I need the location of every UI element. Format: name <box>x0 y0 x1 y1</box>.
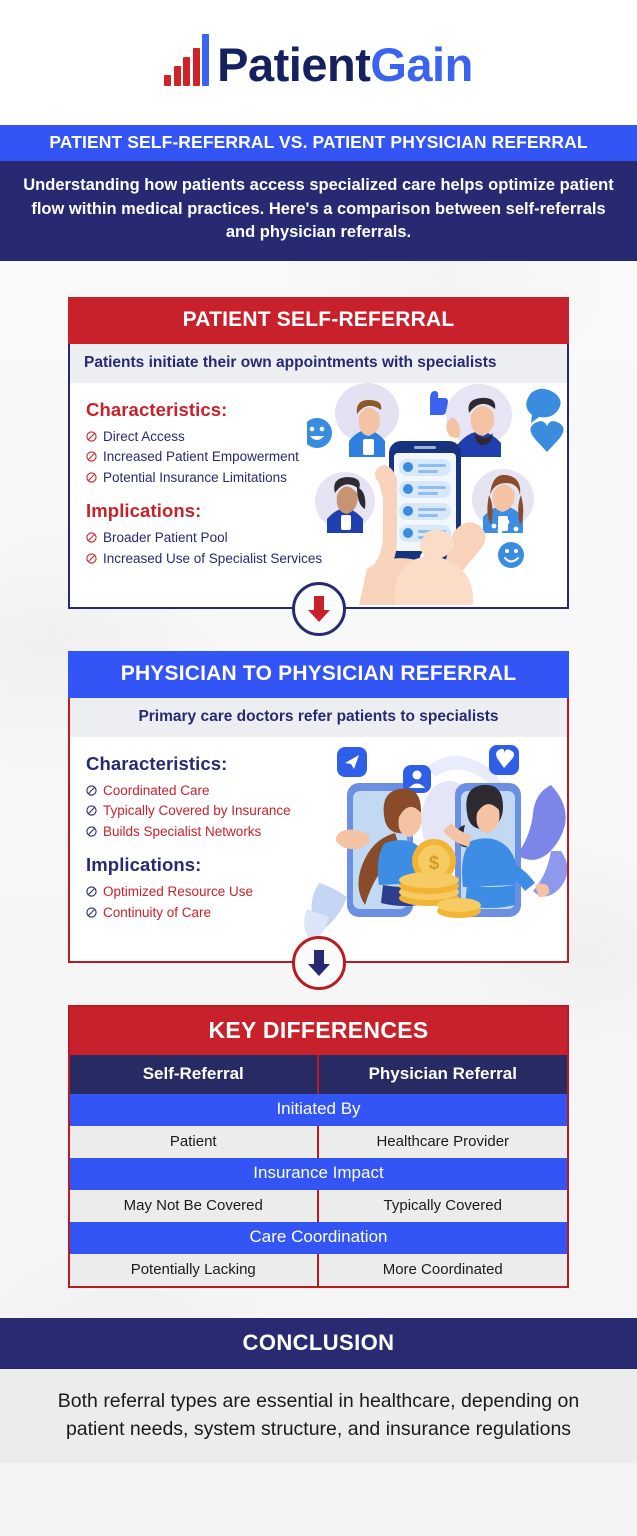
cell-physician-insurance-impact: Typically Covered <box>319 1190 568 1222</box>
list-item-label: Coordinated Care <box>103 781 210 802</box>
list-item: Optimized Resource Use <box>86 882 567 903</box>
column-header-physician-referral: Physician Referral <box>319 1055 568 1094</box>
list-item-label: Direct Access <box>103 427 185 448</box>
down-arrow-red-in-navy-circle <box>292 582 346 636</box>
brand-logo-area: PatientGain <box>0 0 637 125</box>
card-self-referral-subtitle: Patients initiate their own appointments… <box>70 344 567 383</box>
key-differences-title: KEY DIFFERENCES <box>70 1007 567 1055</box>
list-item-label: Increased Use of Specialist Services <box>103 549 322 570</box>
prohibition-circle-icon <box>86 553 97 564</box>
cell-self-initiated-by: Patient <box>70 1126 319 1158</box>
list-item-label: Increased Patient Empowerment <box>103 447 299 468</box>
key-differences-table: KEY DIFFERENCES Self-Referral Physician … <box>68 1005 569 1288</box>
list-item-label: Continuity of Care <box>103 903 211 924</box>
prohibition-circle-icon <box>86 451 97 462</box>
down-arrow-icon <box>306 594 332 624</box>
conclusion-title: CONCLUSION <box>0 1318 637 1369</box>
list-item: Direct Access <box>86 427 567 448</box>
list-item-label: Typically Covered by Insurance <box>103 801 291 822</box>
list-item: Broader Patient Pool <box>86 528 567 549</box>
cell-self-insurance-impact: May Not Be Covered <box>70 1190 319 1222</box>
cell-physician-care-coordination: More Coordinated <box>319 1254 568 1286</box>
prohibition-circle-icon <box>86 785 97 796</box>
prohibition-circle-icon <box>86 826 97 837</box>
table-header-row: Self-Referral Physician Referral <box>70 1055 567 1094</box>
card-self-referral-title: PATIENT SELF-REFERRAL <box>68 297 569 344</box>
list-item: Continuity of Care <box>86 903 567 924</box>
card-physician-referral-wrapper: PHYSICIAN TO PHYSICIAN REFERRAL Primary … <box>0 651 637 963</box>
down-arrow-icon <box>306 948 332 978</box>
list-item: Potential Insurance Limitations <box>86 468 567 489</box>
list-item-label: Broader Patient Pool <box>103 528 228 549</box>
self-referral-implications-heading: Implications: <box>86 500 567 522</box>
main-title-banner: PATIENT SELF-REFERRAL VS. PATIENT PHYSIC… <box>0 125 637 161</box>
physician-referral-implications-heading: Implications: <box>86 854 567 876</box>
table-row: Patient Healthcare Provider <box>70 1126 567 1158</box>
prohibition-circle-icon <box>86 886 97 897</box>
table-row: Potentially Lacking More Coordinated <box>70 1254 567 1286</box>
card-self-referral-wrapper: PATIENT SELF-REFERRAL Patients initiate … <box>0 297 637 609</box>
list-item-label: Optimized Resource Use <box>103 882 253 903</box>
table-row: May Not Be Covered Typically Covered <box>70 1190 567 1222</box>
list-item: Typically Covered by Insurance <box>86 801 567 822</box>
card-self-referral: PATIENT SELF-REFERRAL Patients initiate … <box>68 297 569 609</box>
list-item: Increased Patient Empowerment <box>86 447 567 468</box>
card-physician-referral-content: $ Characteristics: <box>70 737 567 961</box>
column-header-self-referral: Self-Referral <box>70 1055 319 1094</box>
conclusion-text: Both referral types are essential in hea… <box>0 1369 637 1464</box>
down-arrow-navy-in-red-circle <box>292 936 346 990</box>
card-self-referral-content: $ <box>70 383 567 607</box>
card-physician-referral: PHYSICIAN TO PHYSICIAN REFERRAL Primary … <box>68 651 569 963</box>
list-item: Builds Specialist Networks <box>86 822 567 843</box>
prohibition-circle-icon <box>86 472 97 483</box>
self-referral-characteristics-list: Direct Access Increased Patient Empowerm… <box>86 427 567 489</box>
infographic-page: PatientGain PATIENT SELF-REFERRAL VS. PA… <box>0 0 637 1536</box>
brand-name-gain: Gain <box>370 38 472 91</box>
key-differences-wrapper: KEY DIFFERENCES Self-Referral Physician … <box>0 1005 637 1288</box>
cell-physician-initiated-by: Healthcare Provider <box>319 1126 568 1158</box>
brand-wordmark: PatientGain <box>217 42 473 87</box>
prohibition-circle-icon <box>86 431 97 442</box>
card-physician-referral-body: Primary care doctors refer patients to s… <box>68 698 569 963</box>
card-physician-referral-title: PHYSICIAN TO PHYSICIAN REFERRAL <box>68 651 569 698</box>
physician-referral-implications-list: Optimized Resource Use Continuity of Car… <box>86 882 567 923</box>
list-item: Coordinated Care <box>86 781 567 802</box>
prohibition-circle-icon <box>86 805 97 816</box>
intro-description: Understanding how patients access specia… <box>0 161 637 260</box>
prohibition-circle-icon <box>86 907 97 918</box>
cell-self-care-coordination: Potentially Lacking <box>70 1254 319 1286</box>
physician-referral-characteristics-list: Coordinated Care Typically Covered by In… <box>86 781 567 843</box>
self-referral-characteristics-heading: Characteristics: <box>86 399 567 421</box>
list-item-label: Potential Insurance Limitations <box>103 468 287 489</box>
list-item: Increased Use of Specialist Services <box>86 549 567 570</box>
table-category-care-coordination: Care Coordination <box>70 1222 567 1254</box>
table-category-initiated-by: Initiated By <box>70 1094 567 1126</box>
card-physician-referral-subtitle: Primary care doctors refer patients to s… <box>70 698 567 737</box>
self-referral-implications-list: Broader Patient Pool Increased Use of Sp… <box>86 528 567 569</box>
physician-referral-characteristics-heading: Characteristics: <box>86 753 567 775</box>
patientgain-logo: PatientGain <box>164 38 473 88</box>
bar-chart-icon <box>164 38 209 86</box>
card-self-referral-body: Patients initiate their own appointments… <box>68 344 569 609</box>
list-item-label: Builds Specialist Networks <box>103 822 261 843</box>
brand-name-patient: Patient <box>217 38 370 91</box>
prohibition-circle-icon <box>86 532 97 543</box>
table-category-insurance-impact: Insurance Impact <box>70 1158 567 1190</box>
